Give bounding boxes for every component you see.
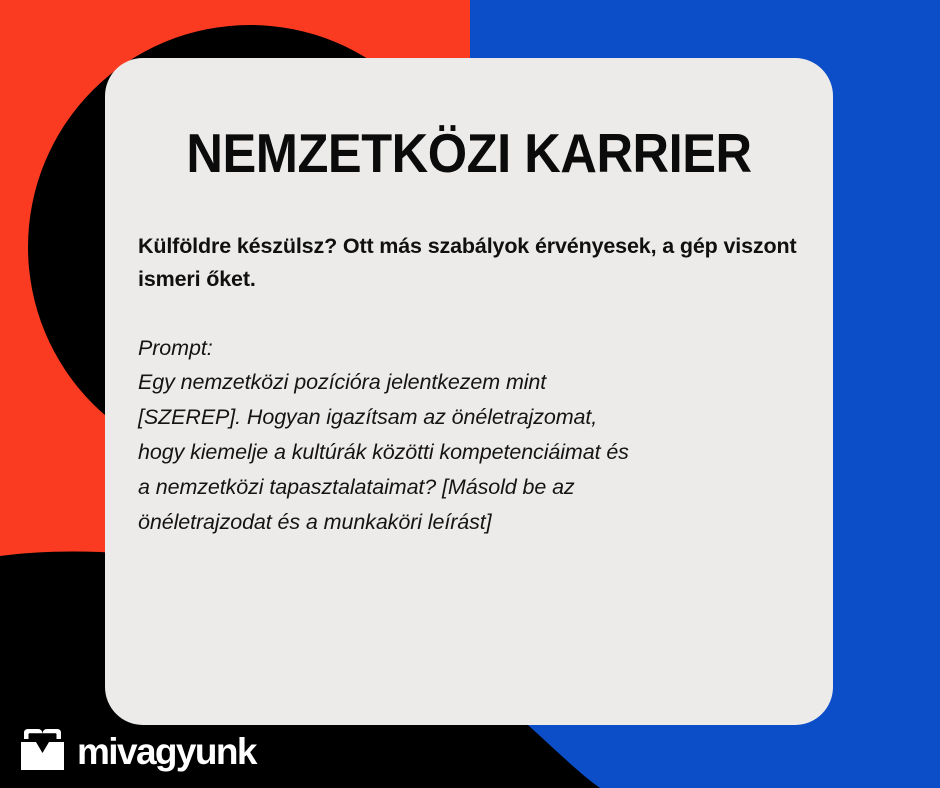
prompt-block: Prompt: Egy nemzetközi pozícióra jelentk… (138, 331, 803, 540)
prompt-line-2: [SZEREP]. Hogyan igazítsam az önéletrajz… (138, 400, 803, 435)
card-body: Külföldre készülsz? Ott más szabályok ér… (138, 230, 803, 540)
prompt-line-4: a nemzetközi tapasztalataimat? [Másold b… (138, 470, 803, 505)
content-card: NEMZETKÖZI KARRIER Külföldre készülsz? O… (105, 58, 833, 725)
brand-logo: mivagyunk (19, 727, 256, 772)
prompt-line-1: Egy nemzetközi pozícióra jelentkezem min… (138, 365, 803, 400)
logo-wordmark: mivagyunk (77, 733, 256, 770)
poster-canvas: NEMZETKÖZI KARRIER Külföldre készülsz? O… (0, 0, 940, 788)
page-title: NEMZETKÖZI KARRIER (134, 125, 804, 183)
prompt-line-5: önéletrajzodat és a munkaköri leírást] (138, 505, 803, 540)
prompt-line-3: hogy kiemelje a kultúrák közötti kompete… (138, 435, 803, 470)
prompt-label: Prompt: (138, 331, 803, 366)
briefcase-icon (19, 727, 66, 772)
lead-paragraph: Külföldre készülsz? Ott más szabályok ér… (138, 230, 803, 297)
